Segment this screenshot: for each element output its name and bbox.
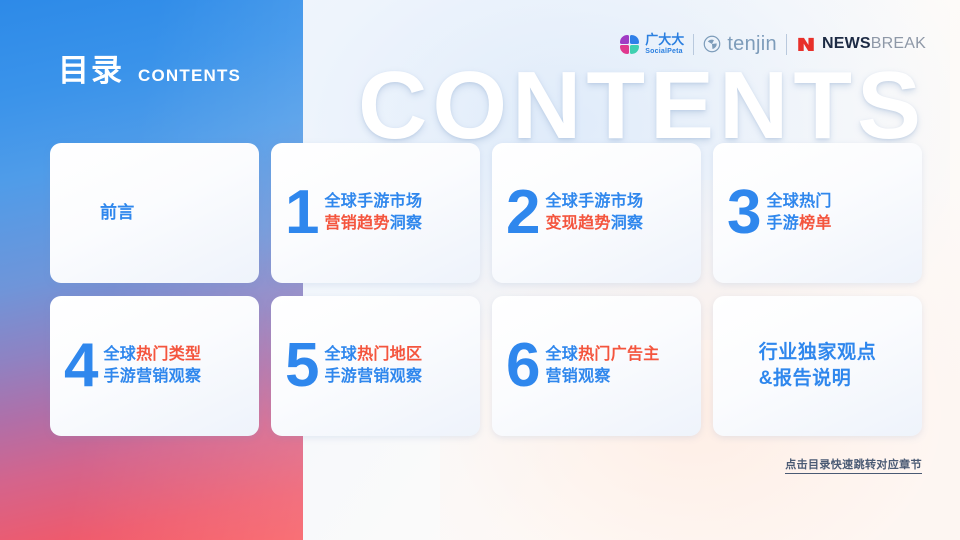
- contents-watermark: CONTENTS: [358, 58, 926, 154]
- card-text-segment: &报告说明: [759, 368, 852, 389]
- contents-card-2[interactable]: 2全球手游市场变现趋势洞察: [492, 143, 701, 283]
- page-title-en: CONTENTS: [138, 67, 241, 86]
- logo-newsbreak: NEWSBREAK: [796, 35, 926, 53]
- contents-card-preface[interactable]: 前言: [50, 143, 259, 283]
- card-line: 变现趋势洞察: [545, 215, 643, 234]
- partner-logo-bar: 广大大 SocialPeta tenjin NEWSBREAK: [620, 33, 926, 55]
- card-number: 5: [285, 339, 317, 392]
- newsbreak-name-bold: NEWS: [822, 35, 871, 52]
- card-text-segment: 变现趋势: [545, 215, 610, 232]
- card-number: 1: [285, 186, 317, 239]
- card-text-segment: 热门广告主: [578, 346, 660, 363]
- logo-divider-2: [786, 34, 787, 55]
- page-title: 目录 CONTENTS: [58, 55, 241, 86]
- card-line: 全球手游市场: [324, 193, 422, 212]
- card-text-segment: 全球: [324, 346, 357, 363]
- card-text-segment: 榜单: [799, 215, 832, 232]
- socialpeta-name-cn: 广大大: [645, 33, 684, 46]
- newsbreak-name-light: BREAK: [871, 35, 926, 52]
- card-line: 全球热门广告主: [545, 346, 659, 365]
- contents-card-4[interactable]: 4全球热门类型手游营销观察: [50, 296, 259, 436]
- contents-row-1: 前言1全球手游市场营销趋势洞察2全球手游市场变现趋势洞察3全球热门手游榜单: [50, 143, 922, 283]
- contents-card-6[interactable]: 6全球热门广告主营销观察: [492, 296, 701, 436]
- tenjin-name: tenjin: [727, 34, 777, 54]
- jump-hint: 点击目录快速跳转对应章节: [785, 456, 922, 474]
- card-line: 全球热门地区: [324, 346, 422, 365]
- contents-card-appendix[interactable]: 行业独家观点&报告说明: [713, 296, 922, 436]
- card-text-segment: 全球: [103, 346, 136, 363]
- contents-card-1[interactable]: 1全球手游市场营销趋势洞察: [271, 143, 480, 283]
- card-line: &报告说明: [759, 368, 877, 390]
- card-text-segment: 手游营销观察: [324, 368, 422, 385]
- logo-divider-1: [693, 34, 694, 55]
- card-line: 全球手游市场: [545, 193, 643, 212]
- card-text-segment: 全球: [545, 346, 578, 363]
- card-text-segment: 行业独家观点: [759, 342, 877, 363]
- slide-canvas: CONTENTS 目录 CONTENTS 广大大 SocialPeta tenj…: [0, 0, 960, 540]
- card-text-segment: 营销趋势: [324, 215, 389, 232]
- card-number: 4: [64, 339, 96, 392]
- card-text-segment: 全球手游市场: [324, 193, 422, 210]
- contents-card-5[interactable]: 5全球热门地区手游营销观察: [271, 296, 480, 436]
- card-text-segment: 洞察: [390, 215, 423, 232]
- logo-socialpeta: 广大大 SocialPeta: [620, 33, 684, 55]
- card-text-segment: 热门类型: [136, 346, 201, 363]
- card-text-segment: 洞察: [611, 215, 644, 232]
- card-text-segment: 手游: [766, 215, 799, 232]
- card-text-segment: 全球热门: [766, 193, 831, 210]
- card-number: 3: [727, 186, 759, 239]
- socialpeta-quadrant-icon: [620, 35, 639, 54]
- card-line: 全球热门类型: [103, 346, 201, 365]
- card-number: 6: [506, 339, 538, 392]
- logo-tenjin: tenjin: [703, 34, 777, 54]
- card-line: 前言: [100, 203, 135, 223]
- contents-grid: 前言1全球手游市场营销趋势洞察2全球手游市场变现趋势洞察3全球热门手游榜单 4全…: [50, 143, 922, 436]
- card-line: 手游榜单: [766, 215, 831, 234]
- page-title-cn: 目录: [58, 55, 124, 86]
- card-line: 营销观察: [545, 368, 659, 387]
- socialpeta-name-en: SocialPeta: [645, 48, 684, 55]
- card-line: 手游营销观察: [103, 368, 201, 387]
- card-text-segment: 全球手游市场: [545, 193, 643, 210]
- card-line: 手游营销观察: [324, 368, 422, 387]
- contents-card-3[interactable]: 3全球热门手游榜单: [713, 143, 922, 283]
- card-line: 全球热门: [766, 193, 831, 212]
- card-line: 行业独家观点: [759, 342, 877, 364]
- card-text-segment: 营销观察: [545, 368, 610, 385]
- card-text-segment: 前言: [100, 203, 135, 222]
- contents-row-2: 4全球热门类型手游营销观察5全球热门地区手游营销观察6全球热门广告主营销观察行业…: [50, 296, 922, 436]
- card-line: 营销趋势洞察: [324, 215, 422, 234]
- card-text-segment: 手游营销观察: [103, 368, 201, 385]
- card-number: 2: [506, 186, 538, 239]
- card-text-segment: 热门地区: [357, 346, 422, 363]
- newsbreak-bolt-icon: [796, 35, 816, 53]
- tenjin-circle-icon: [703, 35, 721, 53]
